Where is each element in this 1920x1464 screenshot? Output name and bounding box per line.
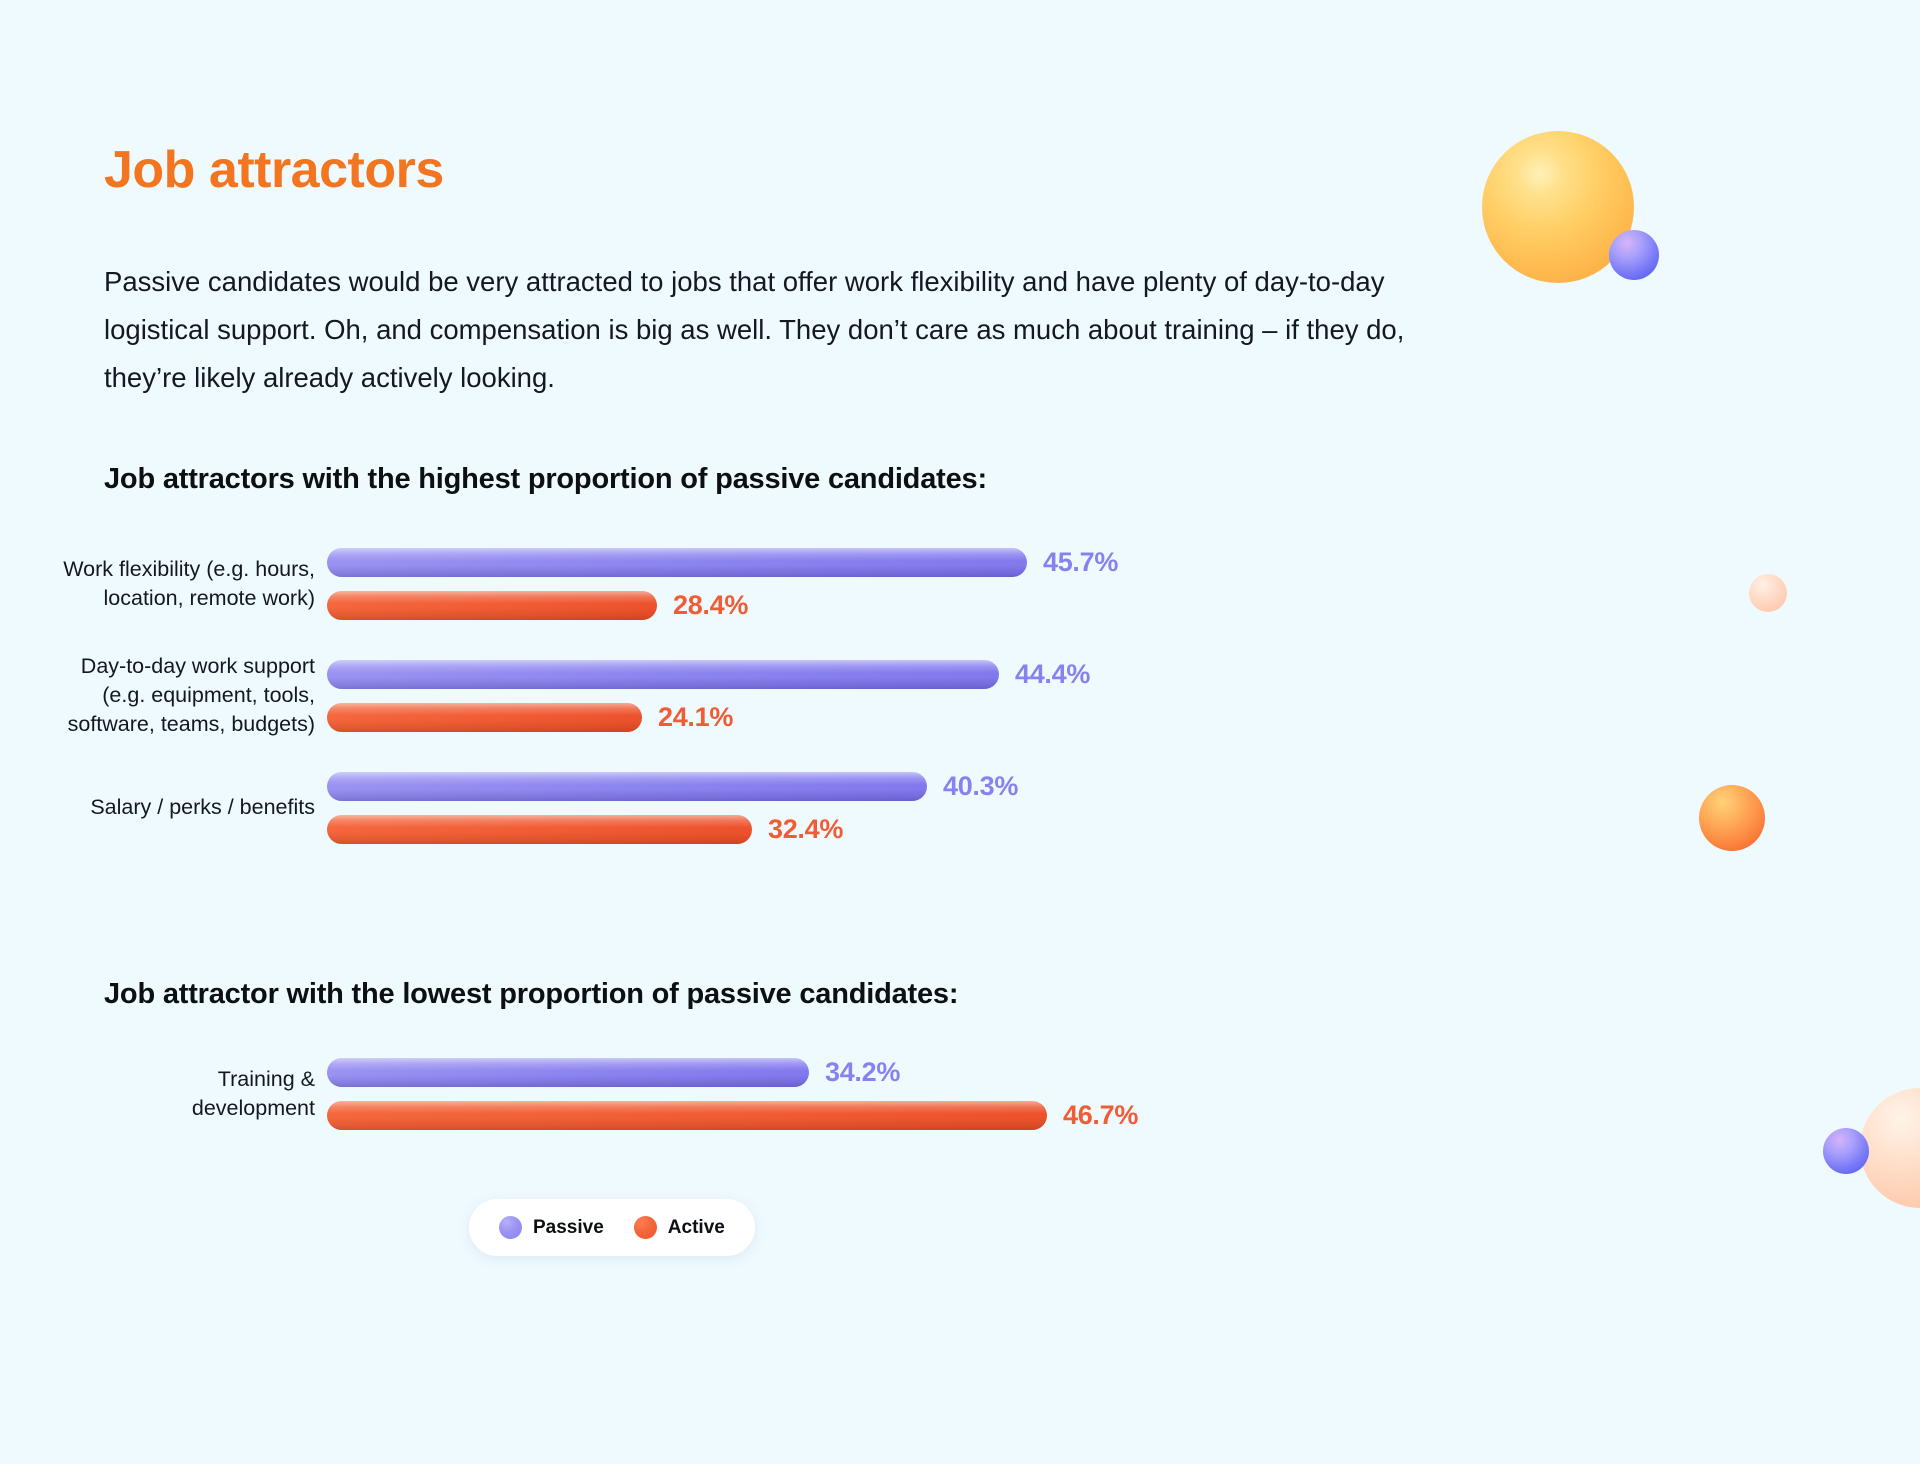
row-label-line: Work flexibility (e.g. hours, [0,555,315,584]
bar-value-active: 24.1% [658,702,733,733]
bar-value-passive: 40.3% [943,771,1018,802]
bar-passive[interactable] [327,548,1027,577]
bar-passive[interactable] [327,660,999,689]
bar-line-active: 28.4% [327,588,1920,622]
bar-line-active: 32.4% [327,812,1920,846]
row-label-line: Training & [0,1065,315,1094]
bar-line-passive: 34.2% [327,1055,1920,1089]
bar-line-passive: 45.7% [327,545,1920,579]
legend-dot-active-icon [634,1216,657,1239]
legend-item-active[interactable]: Active [634,1216,725,1239]
bar-active[interactable] [327,591,657,620]
row-label-line: location, remote work) [0,584,315,613]
row-label: Work flexibility (e.g. hours, location, … [0,555,327,613]
bar-active[interactable] [327,703,642,732]
row-bars: 44.4% 24.1% [327,657,1920,734]
chart-lowest-proportion: Training & development 34.2% 46.7% [0,1055,1920,1132]
row-bars: 34.2% 46.7% [327,1055,1920,1132]
chart-legend: Passive Active [469,1199,755,1256]
bar-value-passive: 45.7% [1043,547,1118,578]
row-label-line: Day-to-day work support [0,652,315,681]
bar-passive[interactable] [327,1058,809,1087]
bar-value-active: 32.4% [768,814,843,845]
row-label-line: (e.g. equipment, tools, [0,681,315,710]
chart-highest-proportion: Work flexibility (e.g. hours, location, … [0,545,1920,846]
row-label: Salary / perks / benefits [0,793,327,822]
chart-row: Salary / perks / benefits 40.3% 32.4% [0,769,1920,846]
bar-passive[interactable] [327,772,927,801]
row-label: Day-to-day work support (e.g. equipment,… [0,652,327,739]
bar-value-passive: 34.2% [825,1057,900,1088]
row-bars: 45.7% 28.4% [327,545,1920,622]
chart-row: Training & development 34.2% 46.7% [0,1055,1920,1132]
intro-paragraph: Passive candidates would be very attract… [104,258,1484,402]
row-label-line: software, teams, budgets) [0,710,315,739]
legend-label-passive: Passive [533,1217,604,1239]
chart-row: Work flexibility (e.g. hours, location, … [0,545,1920,622]
row-label-line: Salary / perks / benefits [0,793,315,822]
row-bars: 40.3% 32.4% [327,769,1920,846]
bar-line-passive: 44.4% [327,657,1920,691]
bar-line-passive: 40.3% [327,769,1920,803]
row-label-line: development [0,1094,315,1123]
bar-active[interactable] [327,1101,1047,1130]
section-heading-lowest: Job attractor with the lowest proportion… [104,978,958,1011]
row-label: Training & development [0,1065,327,1123]
bar-active[interactable] [327,815,752,844]
bar-line-active: 46.7% [327,1098,1920,1132]
legend-dot-passive-icon [499,1216,522,1239]
bar-value-active: 28.4% [673,590,748,621]
bar-value-active: 46.7% [1063,1100,1138,1131]
legend-item-passive[interactable]: Passive [499,1216,604,1239]
section-heading-highest: Job attractors with the highest proporti… [104,463,987,496]
decorative-sphere-blue-small [1609,230,1659,280]
page-title: Job attractors [104,140,444,200]
bar-value-passive: 44.4% [1015,659,1090,690]
decorative-sphere-orange-large [1482,131,1634,283]
chart-row: Day-to-day work support (e.g. equipment,… [0,652,1920,739]
bar-line-active: 24.1% [327,700,1920,734]
legend-label-active: Active [668,1217,725,1239]
decorative-sphere-violet-small [1823,1128,1869,1174]
